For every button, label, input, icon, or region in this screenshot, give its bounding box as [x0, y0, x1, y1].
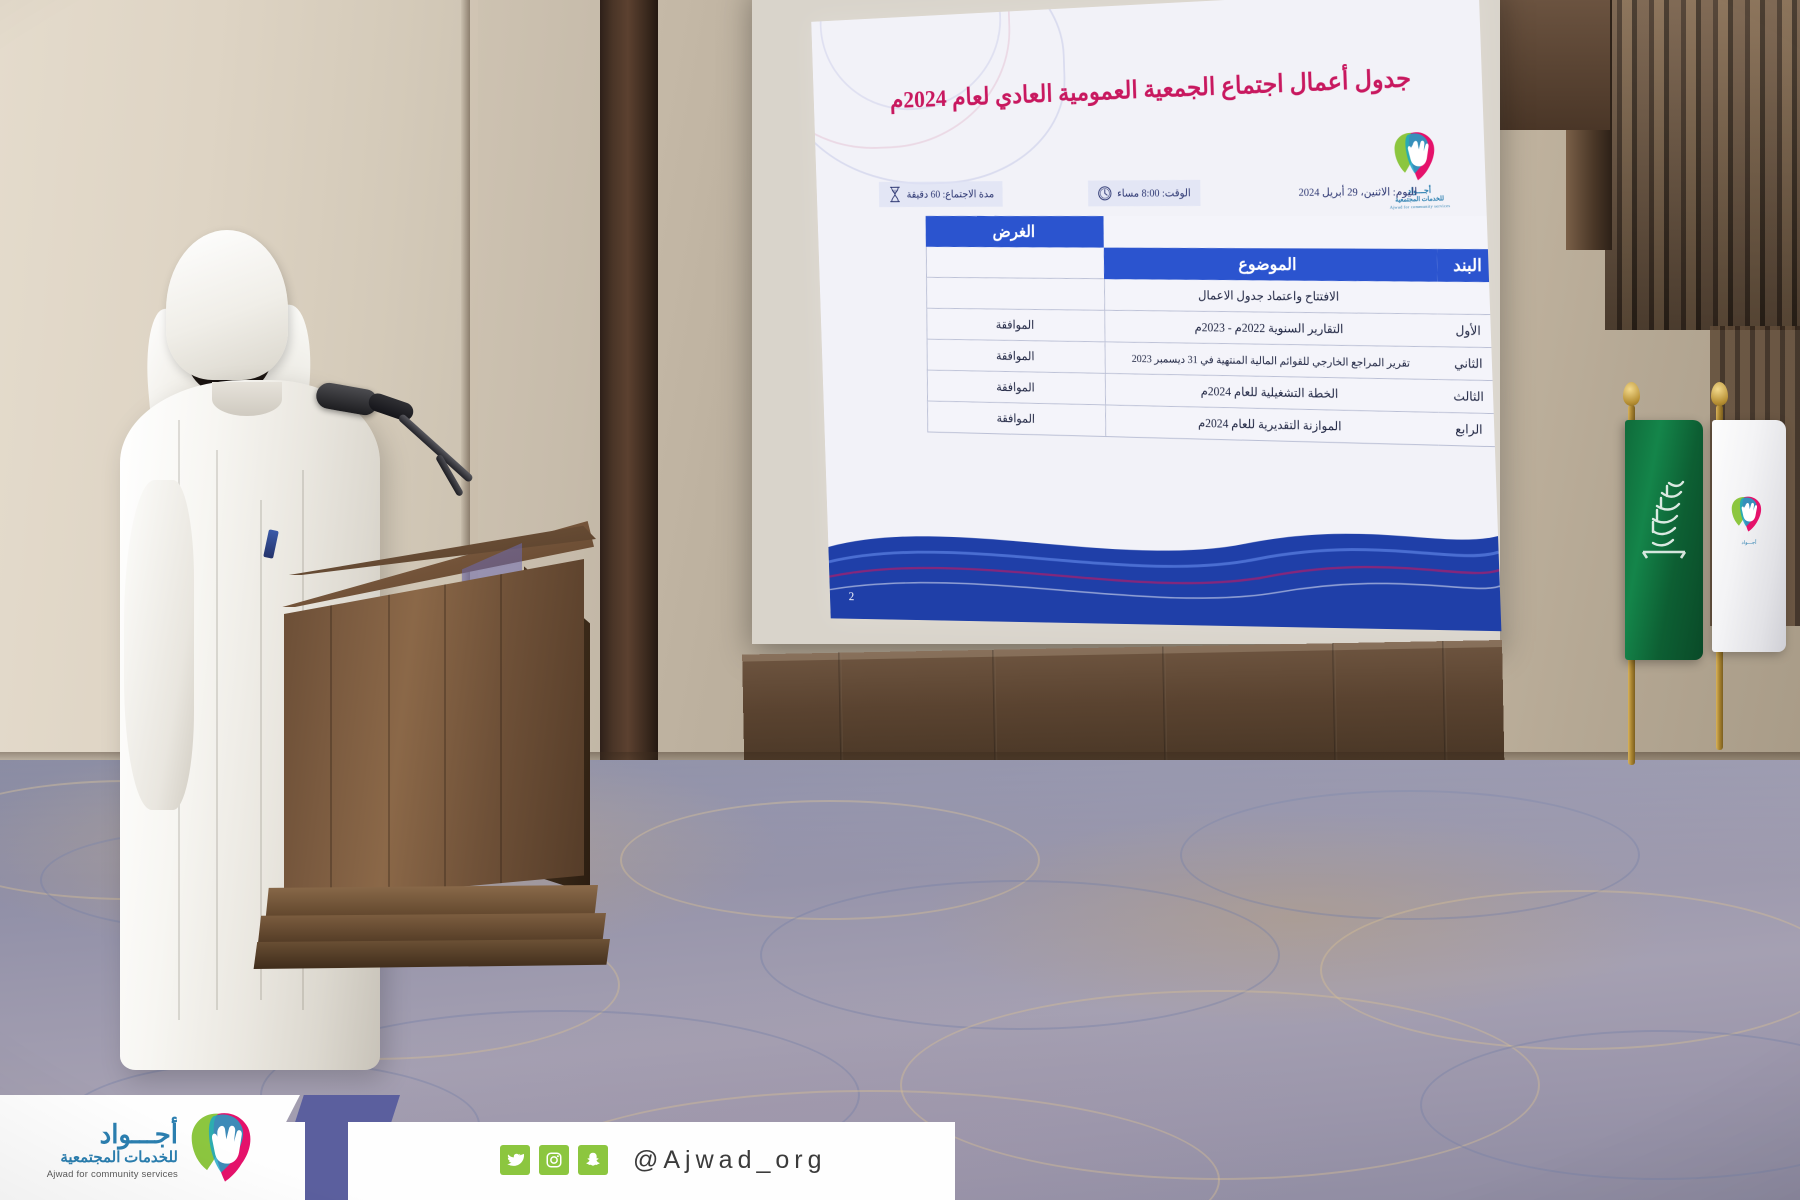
cell-band: الأول — [1438, 315, 1499, 349]
presenter-left-arm — [124, 480, 194, 810]
cell-purpose: الموافقة — [927, 340, 1105, 374]
slide-page-number: 2 — [848, 589, 854, 604]
organization-flag: أجـــواد — [1712, 420, 1786, 652]
purpose-cell-spacer — [926, 247, 1104, 279]
table-header-row-2: البند الموضوع — [926, 247, 1498, 282]
social-handle[interactable]: @Ajwad_org — [633, 1146, 827, 1175]
cell-purpose — [926, 278, 1104, 311]
cell-purpose: الموافقة — [927, 401, 1105, 437]
cell-purpose: الموافقة — [927, 371, 1105, 406]
twitter-icon[interactable] — [500, 1145, 530, 1175]
cell-band: الثاني — [1438, 347, 1499, 381]
meeting-day-text: اليوم: الاثنين، 29 أبريل 2024 — [1299, 185, 1418, 198]
banner-english: Ajwad for community services — [40, 1169, 178, 1180]
cell-band: الثالث — [1438, 380, 1499, 414]
social-links: @Ajwad_org — [500, 1138, 827, 1182]
slide-meeting-info: اليوم: الاثنين، 29 أبريل 2024 الوقت: 8:0… — [879, 163, 1427, 220]
agenda-table: الغرض البند الموضوع الافتتاح واعتماد جدو… — [926, 216, 1500, 447]
table-header-row-1: الغرض — [926, 216, 1498, 249]
clock-icon — [1097, 184, 1113, 202]
meeting-time-chip: الوقت: 8:00 مساء — [1088, 179, 1200, 206]
slide-footer-wave — [827, 493, 1502, 631]
flag-finial-saudi-icon — [1623, 382, 1640, 406]
thobe-collar — [212, 382, 282, 416]
instagram-icon[interactable] — [539, 1145, 569, 1175]
slat-panel-shading — [1605, 0, 1800, 330]
cell-purpose: الموافقة — [926, 309, 1104, 343]
banner-brand-text: أجـــواد للخدمات المجتمعية Ajwad for com… — [40, 1121, 178, 1180]
wood-header-beam — [1490, 0, 1610, 130]
twitter-bird-glyph — [506, 1151, 524, 1169]
screenshot-canvas: جدول أعمال اجتماع الجمعية العمومية العاد… — [0, 0, 1800, 1200]
header-purpose: الغرض — [926, 216, 1104, 248]
snapchat-icon[interactable] — [578, 1145, 608, 1175]
header-subject: الموضوع — [1104, 248, 1438, 282]
banner-arabic-primary: أجـــواد — [40, 1121, 178, 1148]
shahada-script-icon — [1637, 474, 1691, 564]
wood-column-left — [600, 0, 658, 800]
header-subject-spacer — [1103, 216, 1437, 249]
cell-subject: التقارير السنوية 2022م - 2023م — [1104, 311, 1438, 348]
wooden-podium — [276, 515, 596, 1035]
organization-flag-caption: أجـــواد — [1716, 540, 1782, 546]
instagram-camera-glyph — [545, 1151, 563, 1169]
meeting-duration-text: مدة الاجتماع: 60 دقيقة — [907, 187, 995, 200]
meeting-day-chip: اليوم: الاثنين، 29 أبريل 2024 — [1289, 181, 1427, 202]
meeting-time-text: الوقت: 8:00 مساء — [1117, 186, 1191, 199]
cell-subject: الافتتاح واعتماد جدول الاعمال — [1104, 279, 1438, 314]
ghutra-headwear — [166, 230, 288, 380]
podium-front-panel — [284, 559, 584, 903]
meeting-duration-chip: مدة الاجتماع: 60 دقيقة — [879, 181, 1003, 207]
presentation-slide[interactable]: جدول أعمال اجتماع الجمعية العمومية العاد… — [811, 0, 1501, 631]
cell-subject: الموازنة التقديرية للعام 2024م — [1105, 405, 1439, 445]
snapchat-ghost-glyph — [584, 1151, 602, 1169]
cell-band: الرابع — [1438, 413, 1499, 447]
ajwad-logo-flag-icon — [1726, 494, 1772, 536]
flag-finial-org-icon — [1711, 382, 1728, 406]
branding-banner: أجـــواد للخدمات المجتمعية Ajwad for com… — [0, 1095, 955, 1200]
saudi-arabia-flag — [1625, 420, 1703, 660]
banner-arabic-secondary: للخدمات المجتمعية — [40, 1149, 178, 1169]
podium-base-tier-3 — [250, 939, 610, 969]
ajwad-logo-banner-icon — [184, 1108, 266, 1186]
wave-graphic-icon — [827, 493, 1502, 631]
hourglass-icon — [888, 185, 903, 203]
